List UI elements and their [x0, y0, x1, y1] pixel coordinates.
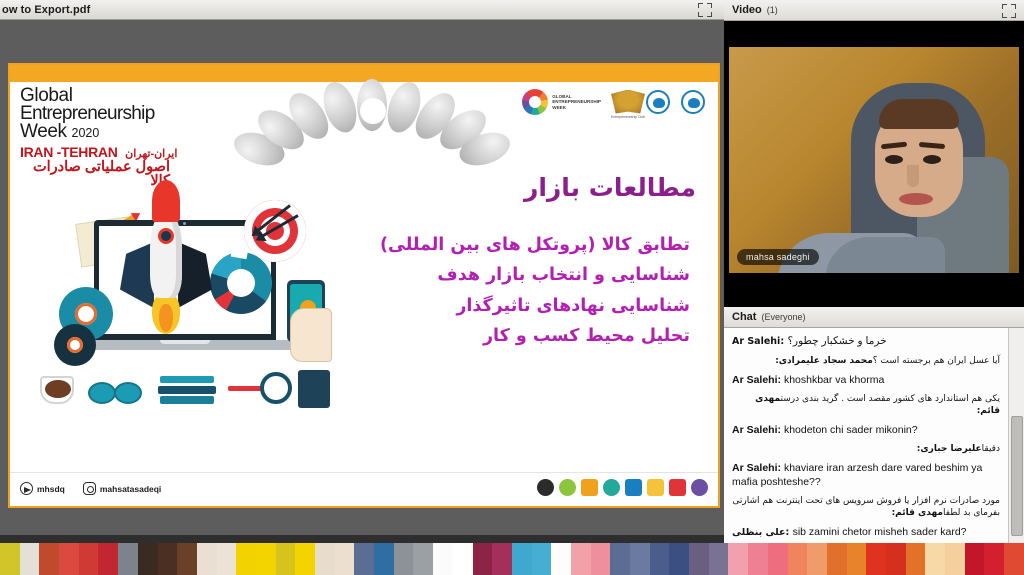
chat-message: یکی هم استاندارد های کشور مقصد است . گری… — [732, 393, 1000, 417]
slide-bullet: شناسایی و انتخاب بازار هدف — [260, 260, 690, 290]
color-swatch — [492, 543, 512, 575]
telegram-handle: mhsdq — [37, 484, 65, 494]
slide-bullet: تحلیل محیط کسب و کار — [260, 321, 690, 351]
color-swatch — [158, 543, 178, 575]
chat-message-text: مورد صادرات نرم افزار یا فروش سرویس های … — [732, 496, 1000, 518]
color-swatch — [512, 543, 532, 575]
color-swatch — [965, 543, 985, 575]
color-swatch — [610, 543, 630, 575]
right-sidebar: Video (1) — [724, 0, 1024, 575]
chat-message-text: یکی هم استاندارد های کشور مقصد است . گری… — [781, 394, 1000, 404]
color-swatch — [354, 543, 374, 575]
zoom-meeting-window: ow to Export.pdf — [0, 0, 1024, 575]
sponsor-logo-6 — [647, 479, 664, 496]
chat-message: آیا عسل ایران هم برجسته است ؟محمد سجاد ع… — [732, 355, 1000, 367]
chat-message: مورد صادرات نرم افزار یا فروش سرویس های … — [732, 495, 1000, 519]
screen-share-window: ow to Export.pdf — [0, 0, 724, 575]
slide-footer: mhsdq mahsatasadeqi — [10, 472, 718, 506]
color-swatch — [886, 543, 906, 575]
color-swatch — [315, 543, 335, 575]
instagram-icon — [83, 482, 96, 495]
entrepreneurship-club-logo: Entrepreneurship Club — [611, 90, 636, 115]
rocket-flame-icon — [152, 292, 180, 334]
fullscreen-expand-icon[interactable] — [1002, 4, 1016, 18]
video-panel-header: Video (1) — [724, 0, 1024, 21]
color-swatch — [256, 543, 276, 575]
sponsor-logo-row — [537, 479, 708, 496]
chat-message: Ar Salehi: خرما و خشکبار چطور؟ — [732, 334, 1000, 349]
chat-scrollbar-thumb[interactable] — [1011, 416, 1023, 536]
gew-wheel-logo: GLOBALENTREPRENEURSHIPWEEK — [522, 89, 601, 115]
slide-bullet: تطابق کالا (پروتکل های بین المللی) — [260, 230, 690, 260]
sponsor-logo-8 — [691, 479, 708, 496]
gew-ring-logo — [347, 85, 399, 137]
decorative-flower-graphic — [265, 79, 480, 164]
color-swatch — [1004, 543, 1024, 575]
book-icon-3 — [160, 396, 214, 404]
color-swatch — [374, 543, 394, 575]
color-swatch — [906, 543, 926, 575]
chat-message-sender: علیرضا جباری: — [917, 444, 982, 454]
video-panel: Video (1) — [724, 0, 1024, 307]
chat-message-sender: Ar Salehi: — [732, 424, 784, 436]
chat-panel: Chat (Everyone) Ar Salehi: خرما و خشکبار… — [724, 307, 1024, 575]
color-swatch — [335, 543, 355, 575]
slide-heading-fa: مطالعات بازار — [524, 173, 696, 202]
social-handles: mhsdq mahsatasadeqi — [20, 482, 161, 495]
chat-message-list[interactable]: Ar Salehi: خرما و خشکبار چطور؟آیا عسل ای… — [724, 328, 1008, 575]
color-swatch — [847, 543, 867, 575]
color-swatch — [532, 543, 552, 575]
color-swatch — [413, 543, 433, 575]
chat-panel-title: Chat — [732, 311, 756, 323]
chat-message-text: خرما و خشکبار چطور؟ — [787, 335, 886, 347]
sponsor-logo-4 — [603, 479, 620, 496]
brand-country-fa: ایران-تهران — [125, 148, 177, 160]
color-swatch — [788, 543, 808, 575]
university-blue-logo — [681, 90, 706, 115]
color-swatch — [807, 543, 827, 575]
color-swatch — [59, 543, 79, 575]
chat-message-sender: Ar Salehi: — [732, 336, 787, 347]
color-swatch — [925, 543, 945, 575]
sponsor-logo-2 — [559, 479, 576, 496]
color-swatch — [20, 543, 40, 575]
video-stage[interactable]: mahsa sadeghi — [724, 21, 1024, 307]
chat-message: Ar Salehi: khaviare iran arzesh dare var… — [732, 461, 1000, 489]
book-icon-2 — [158, 386, 216, 394]
partner-logo-row: GLOBALENTREPRENEURSHIPWEEK Entrepreneurs… — [522, 89, 706, 115]
color-swatch — [984, 543, 1004, 575]
participant-name-badge: mahsa sadeghi — [737, 249, 819, 265]
video-participant-count: (1) — [767, 5, 778, 15]
color-swatch — [79, 543, 99, 575]
color-swatch — [433, 543, 453, 575]
color-swatch — [689, 543, 709, 575]
brand-line-3: Week — [20, 121, 67, 142]
chat-message: دقیقاعلیرضا جباری: — [732, 443, 1000, 455]
gew-brand-title: Global Entrepreneurship Week 2020 IRAN -… — [20, 87, 230, 189]
color-swatch — [295, 543, 315, 575]
slide-bullets-fa: تطابق کالا (پروتکل های بین المللی) شناسا… — [260, 230, 690, 352]
color-swatch — [118, 543, 138, 575]
color-swatch — [571, 543, 591, 575]
share-titlebar: ow to Export.pdf — [0, 0, 724, 20]
color-swatch — [236, 543, 256, 575]
color-swatch — [473, 543, 493, 575]
chat-message-text: khodeton chi sader mikonin? — [784, 424, 918, 436]
presentation-slide: Global Entrepreneurship Week 2020 IRAN -… — [8, 63, 720, 508]
rocket-icon — [150, 214, 182, 298]
chat-scrollbar[interactable] — [1008, 328, 1024, 575]
color-swatch — [0, 543, 20, 575]
color-swatch — [827, 543, 847, 575]
sponsor-logo-3 — [581, 479, 598, 496]
brand-year: 2020 — [72, 126, 100, 140]
color-swatch — [177, 543, 197, 575]
color-swatch — [591, 543, 611, 575]
sponsor-logo-1 — [537, 479, 554, 496]
color-swatch — [276, 543, 296, 575]
color-swatch — [945, 543, 965, 575]
university-emblem-logo — [646, 90, 671, 115]
social-item-instagram: mahsatasadeqi — [83, 482, 161, 495]
color-swatch — [39, 543, 59, 575]
chat-message: Ar Salehi: khoshkbar va khorma — [732, 373, 1000, 387]
instagram-handle: mahsatasadeqi — [100, 484, 161, 494]
book-icon-1 — [160, 376, 214, 383]
chat-message-text: آیا عسل ایران هم برجسته است ؟ — [873, 356, 1000, 366]
color-swatch — [768, 543, 788, 575]
color-swatch — [197, 543, 217, 575]
chat-message-sender: علی بنظلی: — [732, 527, 793, 538]
color-swatch — [98, 543, 118, 575]
color-swatch — [217, 543, 237, 575]
color-swatch — [650, 543, 670, 575]
coffee-cup-icon — [40, 376, 74, 404]
color-swatch — [630, 543, 650, 575]
participant-video-tile[interactable]: mahsa sadeghi — [729, 47, 1019, 273]
fullscreen-expand-icon[interactable] — [698, 3, 712, 17]
telegram-icon — [20, 482, 33, 495]
chat-message-sender: مهدی قائم: — [892, 508, 943, 518]
glasses-icon-right — [114, 382, 142, 404]
color-swatch — [669, 543, 689, 575]
color-swatch — [866, 543, 886, 575]
chat-scope-label: (Everyone) — [761, 312, 805, 322]
magnifier-icon — [260, 372, 292, 404]
color-swatch — [748, 543, 768, 575]
tablet-icon — [298, 370, 330, 408]
chat-panel-header: Chat (Everyone) — [724, 307, 1024, 328]
chat-message-sender: Ar Salehi: — [732, 462, 784, 474]
color-swatch — [551, 543, 571, 575]
slide-bullet: شناسایی نهادهای تاثیرگذار — [260, 291, 690, 321]
chat-message-sender: Ar Salehi: — [732, 374, 784, 386]
chat-message-text: دقیقا — [982, 444, 1000, 454]
chat-message-sender: محمد سجاد علیمرادی: — [775, 356, 873, 366]
chat-message: علی بنظلی: sib zamini chetor misheh sade… — [732, 525, 1000, 540]
color-swatch — [709, 543, 729, 575]
chat-message-text: sib zamini chetor misheh sader kard? — [793, 526, 967, 538]
glasses-icon-left — [88, 382, 116, 404]
color-swatch — [138, 543, 158, 575]
video-panel-title: Video — [732, 4, 762, 16]
brand-country-en: IRAN -TEHRAN — [20, 144, 118, 160]
sponsor-logo-7 — [669, 479, 686, 496]
chat-message-text: khoshkbar va khorma — [784, 374, 884, 386]
color-swatch — [453, 543, 473, 575]
bottom-color-strip — [0, 543, 1024, 575]
social-item-telegram: mhsdq — [20, 482, 65, 495]
sponsor-logo-5 — [625, 479, 642, 496]
chat-message: Ar Salehi: khodeton chi sader mikonin? — [732, 423, 1000, 437]
gear-icon-small — [58, 328, 92, 362]
color-swatch — [394, 543, 414, 575]
share-title: ow to Export.pdf — [0, 4, 90, 16]
color-swatch — [728, 543, 748, 575]
